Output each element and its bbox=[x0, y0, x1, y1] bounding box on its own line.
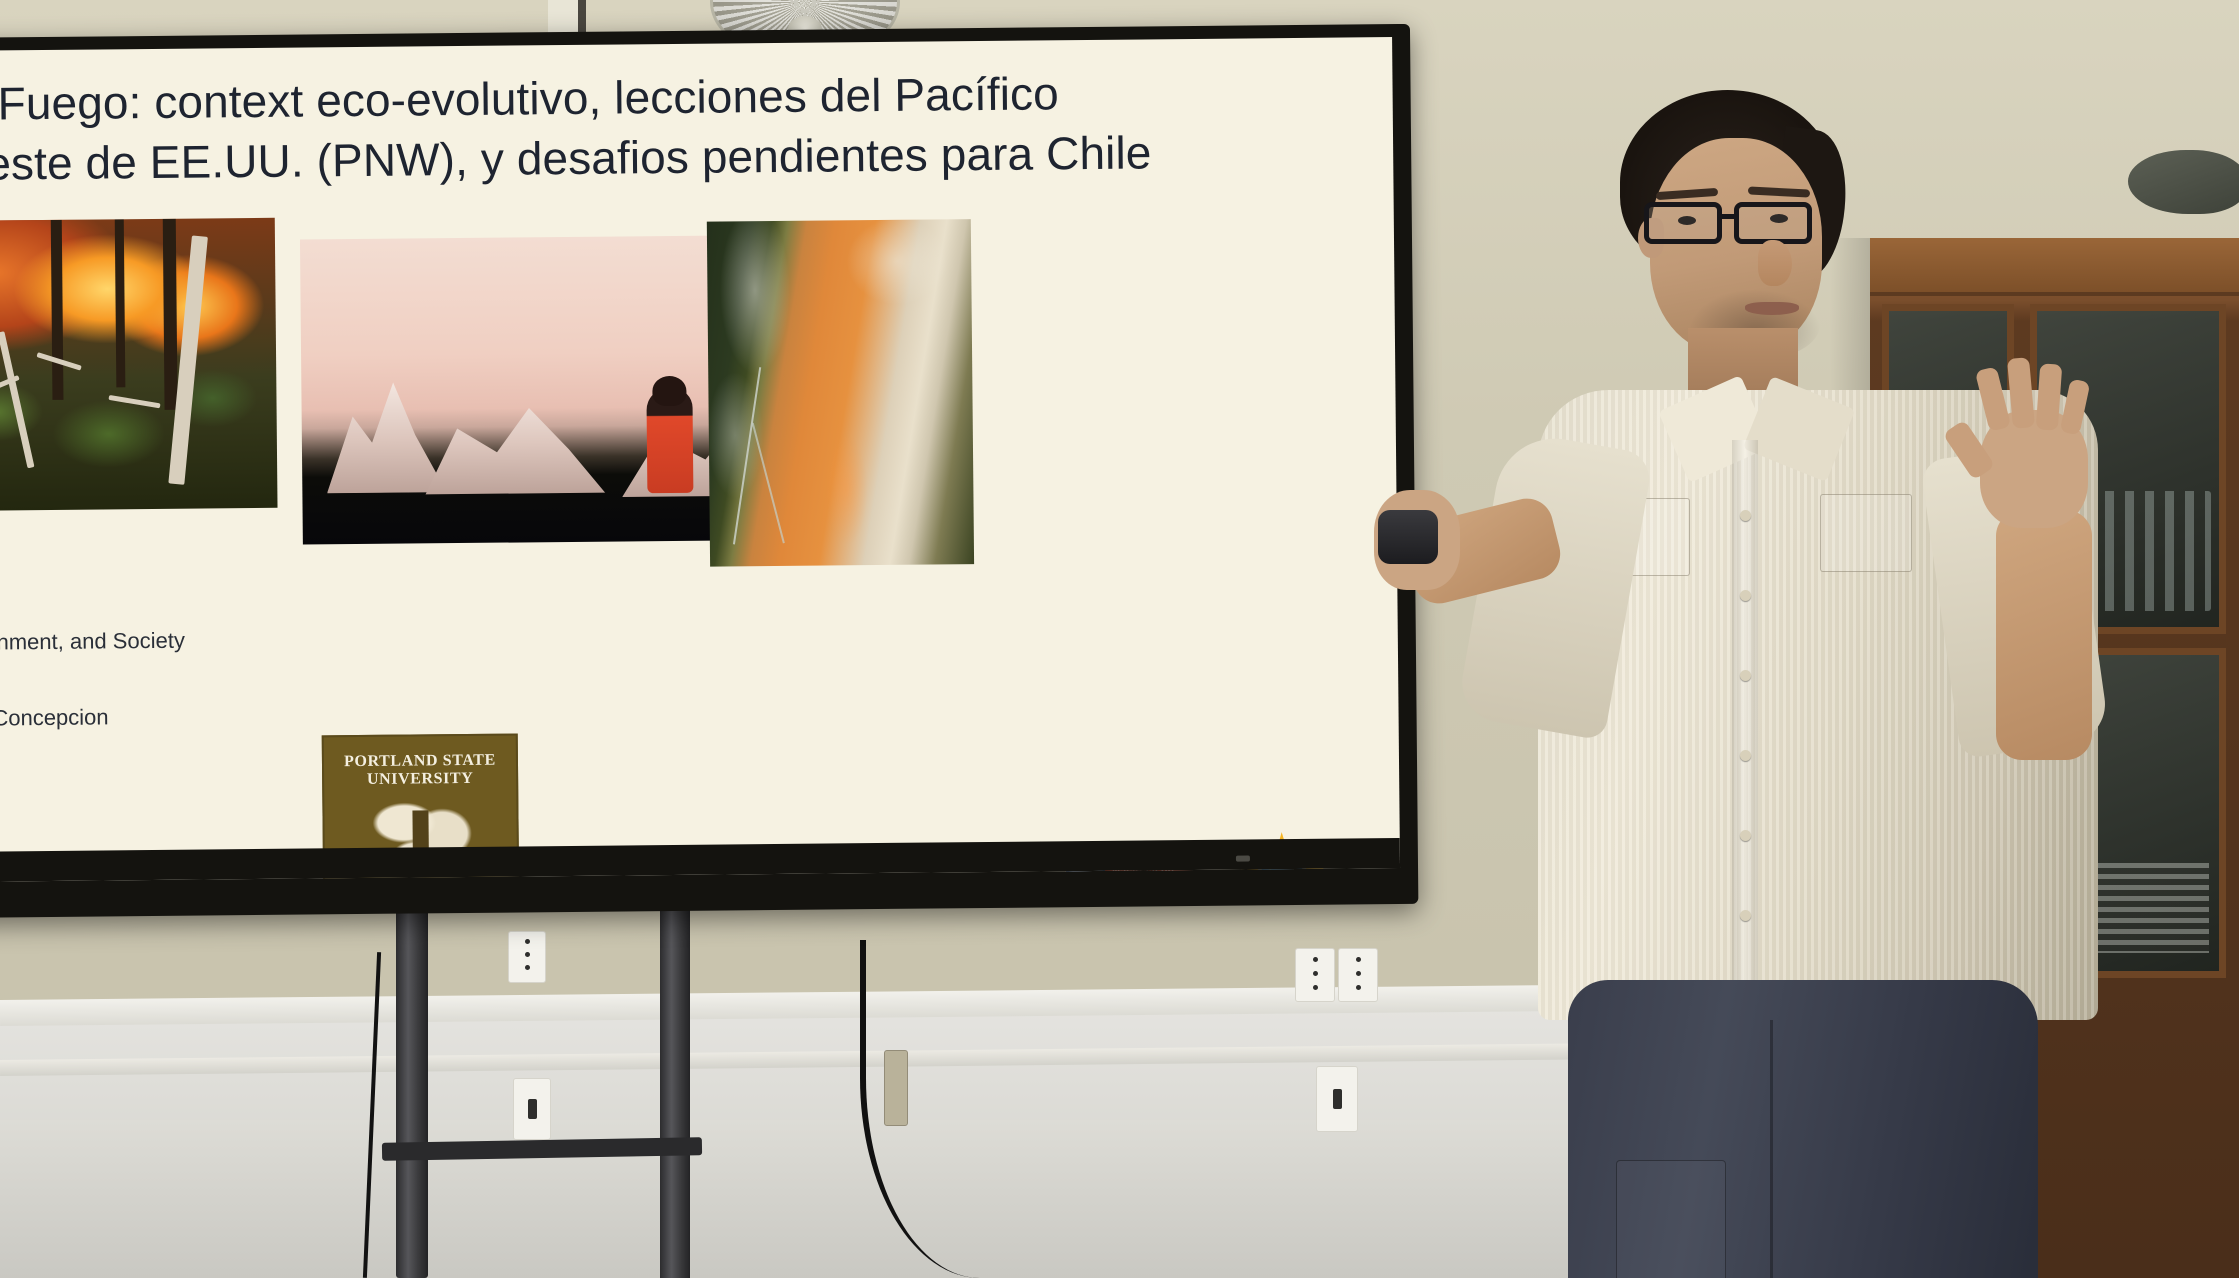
nsf-wordmark: NSF bbox=[1257, 875, 1307, 882]
presenter-nose bbox=[1758, 240, 1792, 286]
image-burn-scar-satellite bbox=[707, 219, 974, 567]
presenter-glasses bbox=[1642, 198, 1832, 246]
presenter-mouth bbox=[1745, 302, 1799, 315]
shirt-button-1 bbox=[1740, 510, 1751, 521]
anid-line-3: Investigación bbox=[1112, 879, 1187, 882]
presentation-room-scene: El Fuego: context eco-evolutivo, leccion… bbox=[0, 0, 2239, 1278]
cargo-pocket bbox=[1616, 1160, 1726, 1278]
slide-title-line-2: roeste de EE.UU. (PNW), y desafios pendi… bbox=[0, 121, 1344, 194]
display-power-led bbox=[1236, 855, 1250, 861]
forest-canopy bbox=[0, 218, 278, 512]
wall-outlet-5[interactable] bbox=[1316, 1066, 1358, 1132]
presenter bbox=[1520, 90, 2140, 1278]
wall-outlet-3[interactable] bbox=[1295, 948, 1335, 1002]
tv-stand-post-right bbox=[660, 905, 690, 1278]
presenter-forearm-right bbox=[1996, 510, 2092, 760]
shirt-button-4 bbox=[1740, 750, 1751, 761]
glasses-bridge bbox=[1722, 214, 1736, 219]
shirt-button-6 bbox=[1740, 910, 1751, 921]
tv-stand-post-left bbox=[396, 900, 428, 1278]
wall-outlet-4[interactable] bbox=[1338, 948, 1378, 1002]
presentation-clicker[interactable] bbox=[1378, 510, 1438, 564]
shirt-pocket-right bbox=[1820, 494, 1912, 572]
wall-outlet-2[interactable] bbox=[513, 1078, 551, 1140]
display-bezel-chin bbox=[0, 838, 1400, 882]
slide-title: El Fuego: context eco-evolutivo, leccion… bbox=[0, 62, 1344, 195]
shirt-button-3 bbox=[1740, 670, 1751, 681]
author-name: és Holz bbox=[0, 517, 398, 565]
glasses-lens-right bbox=[1734, 202, 1812, 244]
shirt-button-2 bbox=[1740, 590, 1751, 601]
shirt-button-5 bbox=[1740, 830, 1751, 841]
image-burning-forest bbox=[0, 218, 278, 512]
presenter-eye-right bbox=[1770, 214, 1788, 223]
display-screen[interactable]: El Fuego: context eco-evolutivo, leccion… bbox=[0, 37, 1400, 882]
psu-arc-text: PORTLAND STATE UNIVERSITY bbox=[324, 752, 516, 790]
satellite-overlay bbox=[707, 219, 974, 567]
finger-middle-right bbox=[2007, 357, 2035, 429]
finger-ring-right bbox=[2036, 363, 2063, 430]
presenter-eye-left bbox=[1678, 216, 1696, 225]
pants-seam bbox=[1770, 1020, 1773, 1278]
decorative-rock bbox=[2128, 150, 2239, 214]
wall-outlet-1[interactable] bbox=[508, 931, 546, 983]
presentation-display[interactable]: El Fuego: context eco-evolutivo, leccion… bbox=[0, 24, 1418, 918]
slide-title-line-1: El Fuego: context eco-evolutivo, leccion… bbox=[0, 67, 1059, 130]
hiker-head bbox=[652, 376, 686, 406]
